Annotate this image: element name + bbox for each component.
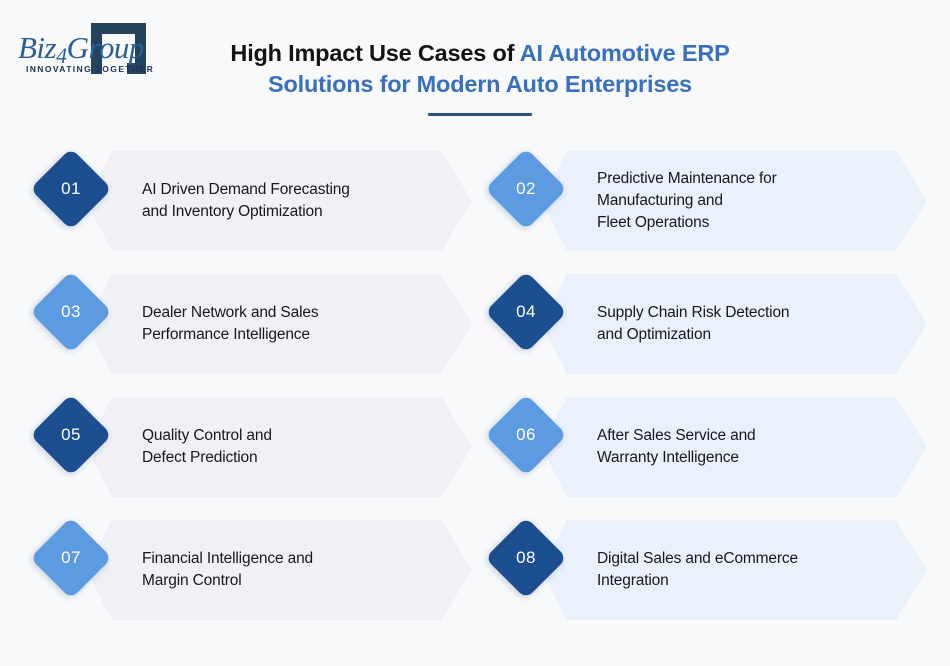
use-case-text-line: and Optimization xyxy=(597,324,872,346)
use-case-item[interactable]: Quality Control andDefect Prediction05 xyxy=(42,397,472,497)
logo-tagline: INNOVATING TOGETHER xyxy=(26,64,176,74)
use-case-text: Dealer Network and SalesPerformance Inte… xyxy=(142,274,417,374)
brand-logo: Biz4Group INNOVATING TOGETHER xyxy=(18,18,178,80)
header: Biz4Group INNOVATING TOGETHER High Impac… xyxy=(0,0,950,140)
page-title-line-1: High Impact Use Cases of AI Automotive E… xyxy=(200,38,760,69)
use-case-number: 02 xyxy=(497,160,555,218)
use-case-text-line: Digital Sales and eCommerce xyxy=(597,548,872,570)
use-case-text-line: Predictive Maintenance for xyxy=(597,168,872,190)
use-case-text-line: AI Driven Demand Forecasting xyxy=(142,179,417,201)
use-case-number-badge: 05 xyxy=(30,394,112,476)
use-case-number-badge: 03 xyxy=(30,271,112,353)
page-title-plain: High Impact Use Cases of xyxy=(230,40,519,66)
use-case-number-badge: 07 xyxy=(30,517,112,599)
use-case-item[interactable]: After Sales Service andWarranty Intellig… xyxy=(497,397,927,497)
logo-word-group: Group xyxy=(67,30,144,65)
use-case-text-line: Integration xyxy=(597,570,872,592)
use-case-number-badge: 06 xyxy=(485,394,567,476)
use-case-grid: AI Driven Demand Forecastingand Inventor… xyxy=(0,143,950,643)
use-case-number: 05 xyxy=(42,406,100,464)
use-case-number: 07 xyxy=(42,529,100,587)
use-case-text: Quality Control andDefect Prediction xyxy=(142,397,417,497)
logo-wordmark: Biz4Group xyxy=(18,31,154,65)
use-case-text-line: and Inventory Optimization xyxy=(142,201,417,223)
infographic-page: Biz4Group INNOVATING TOGETHER High Impac… xyxy=(0,0,950,666)
title-underline-rule xyxy=(428,113,532,116)
use-case-number: 04 xyxy=(497,283,555,341)
use-case-item[interactable]: Digital Sales and eCommerceIntegration08 xyxy=(497,520,927,620)
use-case-text: Supply Chain Risk Detectionand Optimizat… xyxy=(597,274,872,374)
use-case-text: Financial Intelligence andMargin Control xyxy=(142,520,417,620)
page-title-line-2: Solutions for Modern Auto Enterprises xyxy=(200,69,760,100)
use-case-number: 06 xyxy=(497,406,555,464)
use-case-number-badge: 04 xyxy=(485,271,567,353)
use-case-item[interactable]: AI Driven Demand Forecastingand Inventor… xyxy=(42,151,472,251)
use-case-number: 01 xyxy=(42,160,100,218)
use-case-text-line: Warranty Intelligence xyxy=(597,447,872,469)
use-case-text: AI Driven Demand Forecastingand Inventor… xyxy=(142,151,417,251)
use-case-text: After Sales Service andWarranty Intellig… xyxy=(597,397,872,497)
use-case-text-line: Performance Intelligence xyxy=(142,324,417,346)
use-case-text-line: After Sales Service and xyxy=(597,425,872,447)
use-case-item[interactable]: Supply Chain Risk Detectionand Optimizat… xyxy=(497,274,927,374)
use-case-item[interactable]: Predictive Maintenance forManufacturing … xyxy=(497,151,927,251)
use-case-text: Predictive Maintenance forManufacturing … xyxy=(597,151,872,251)
use-case-number-badge: 02 xyxy=(485,148,567,230)
use-case-text-line: Fleet Operations xyxy=(597,212,872,234)
use-case-number-badge: 08 xyxy=(485,517,567,599)
use-case-text-line: Financial Intelligence and xyxy=(142,548,417,570)
use-case-text-line: Margin Control xyxy=(142,570,417,592)
page-title-highlight: AI Automotive ERP xyxy=(520,40,730,66)
use-case-item[interactable]: Financial Intelligence andMargin Control… xyxy=(42,520,472,620)
use-case-text-line: Defect Prediction xyxy=(142,447,417,469)
use-case-item[interactable]: Dealer Network and SalesPerformance Inte… xyxy=(42,274,472,374)
use-case-number: 08 xyxy=(497,529,555,587)
page-title: High Impact Use Cases of AI Automotive E… xyxy=(200,38,760,116)
use-case-text-line: Supply Chain Risk Detection xyxy=(597,302,872,324)
use-case-text-line: Quality Control and xyxy=(142,425,417,447)
use-case-text: Digital Sales and eCommerceIntegration xyxy=(597,520,872,620)
use-case-text-line: Dealer Network and Sales xyxy=(142,302,417,324)
use-case-number: 03 xyxy=(42,283,100,341)
use-case-number-badge: 01 xyxy=(30,148,112,230)
logo-word-biz: Biz xyxy=(18,30,56,65)
use-case-text-line: Manufacturing and xyxy=(597,190,872,212)
